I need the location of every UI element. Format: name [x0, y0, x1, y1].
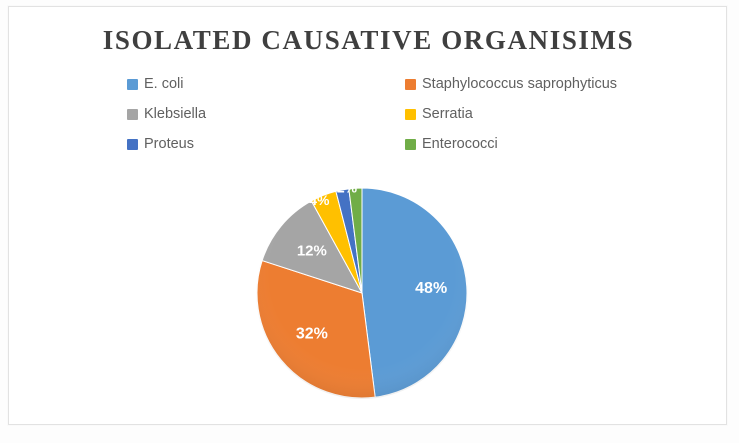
legend-item-label: Proteus — [144, 137, 194, 152]
page-title: ISOLATED CAUSATIVE ORGANISIMS — [9, 25, 728, 56]
legend-item[interactable]: Enterococci — [405, 129, 667, 159]
legend-item[interactable]: Serratia — [405, 99, 667, 129]
pie-slice-label: 4% — [309, 192, 330, 208]
legend-item-label: Enterococci — [422, 137, 498, 152]
legend-item-label: E. coli — [144, 77, 184, 92]
legend-item[interactable]: E. coli — [127, 69, 389, 99]
legend-swatch-icon — [405, 79, 416, 90]
pie-chart-svg: 48%32%12%4%2%2% — [250, 182, 480, 407]
pie-slice-label: 12% — [297, 242, 327, 259]
legend-swatch-icon — [127, 139, 138, 150]
pie-chart: 48%32%12%4%2%2% — [250, 182, 480, 407]
legend-swatch-icon — [127, 109, 138, 120]
chart-figure: ISOLATED CAUSATIVE ORGANISIMS E. coliSta… — [0, 0, 739, 443]
legend-item[interactable]: Proteus — [127, 129, 389, 159]
pie-slice-label: 2% — [337, 182, 358, 196]
chart-legend: E. coliStaphylococcus saprophyticusKlebs… — [127, 69, 667, 159]
legend-item[interactable]: Staphylococcus saprophyticus — [405, 69, 667, 99]
legend-item-label: Staphylococcus saprophyticus — [422, 77, 617, 92]
legend-swatch-icon — [127, 79, 138, 90]
pie-slice-label: 2% — [357, 182, 378, 189]
legend-item-label: Serratia — [422, 107, 473, 122]
legend-swatch-icon — [405, 109, 416, 120]
legend-item-label: Klebsiella — [144, 107, 206, 122]
legend-item[interactable]: Klebsiella — [127, 99, 389, 129]
pie-slice-label: 48% — [415, 280, 447, 297]
legend-swatch-icon — [405, 139, 416, 150]
pie-slice-label: 32% — [296, 326, 328, 343]
